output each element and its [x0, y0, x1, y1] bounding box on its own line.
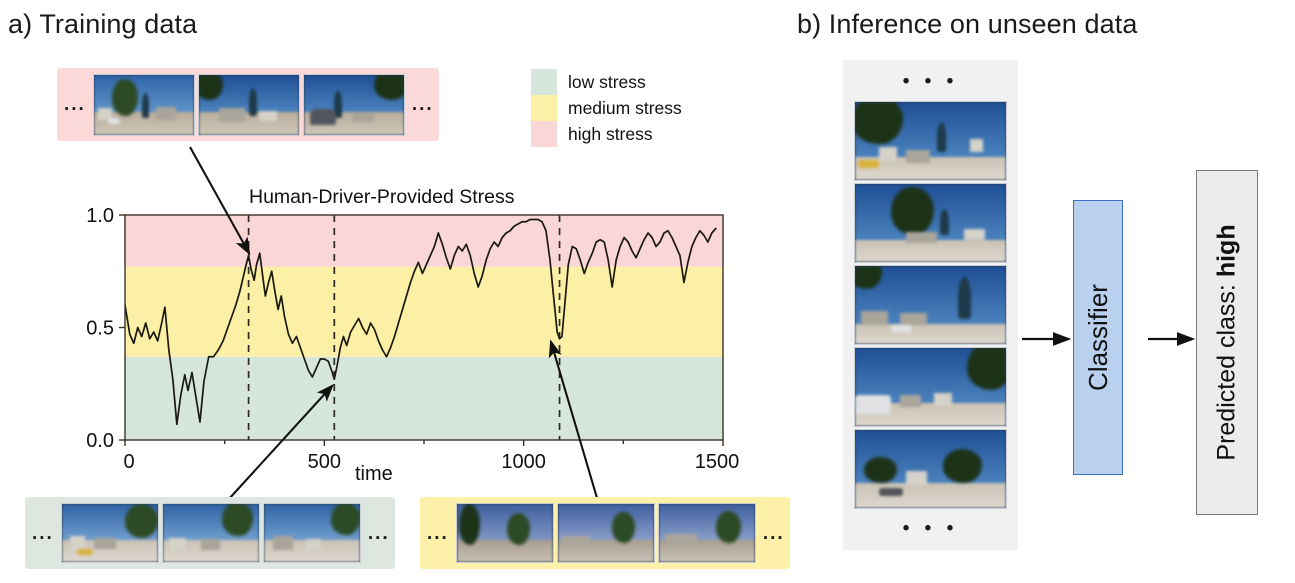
stress-timeseries-chart: 0.00.51.0 050010001500	[60, 200, 750, 485]
legend-item-high: high stress	[531, 121, 682, 147]
video-frame[interactable]	[162, 503, 260, 563]
legend-label-low: low stress	[568, 72, 646, 93]
prediction-prefix: Predicted class:	[1213, 277, 1241, 460]
panel-a-title: a) Training data	[8, 9, 197, 40]
stress-bands	[125, 215, 723, 440]
x-tick-label: 500	[308, 451, 341, 473]
legend-swatch-high	[531, 121, 557, 147]
training-strip-low-stress[interactable]: ...	[25, 497, 395, 569]
strip-frames	[61, 503, 361, 563]
stack-bottom-ellipsis: • • •	[903, 519, 959, 538]
video-frame[interactable]	[303, 74, 405, 136]
stack-top-ellipsis: • • •	[903, 72, 959, 91]
training-strip-high-stress[interactable]: ...	[57, 68, 439, 141]
strip-left-ellipsis: ...	[57, 95, 93, 114]
video-frame[interactable]	[854, 347, 1007, 427]
stress-legend: low stress medium stress high stress	[531, 69, 682, 147]
band-low-stress	[125, 357, 723, 440]
legend-item-medium: medium stress	[531, 95, 682, 121]
classifier-label: Classifier	[1083, 284, 1114, 391]
stack-frames	[854, 101, 1007, 509]
strip-frames	[456, 503, 756, 563]
video-frame[interactable]	[854, 265, 1007, 345]
strip-right-ellipsis: ...	[756, 524, 792, 543]
video-frame[interactable]	[854, 429, 1007, 509]
classifier-box[interactable]: Classifier	[1073, 200, 1123, 475]
legend-swatch-medium	[531, 95, 557, 121]
y-tick-label: 0.0	[86, 430, 114, 452]
x-tick-label: 1500	[695, 451, 740, 473]
video-frame[interactable]	[557, 503, 655, 563]
video-frame[interactable]	[263, 503, 361, 563]
strip-left-ellipsis: ...	[25, 524, 61, 543]
strip-left-ellipsis: ...	[420, 524, 456, 543]
band-medium-stress	[125, 267, 723, 357]
prediction-box: Predicted class: high	[1196, 170, 1258, 515]
strip-right-ellipsis: ...	[361, 524, 397, 543]
video-frame[interactable]	[93, 74, 195, 136]
band-high-stress	[125, 215, 723, 267]
training-strip-medium-stress[interactable]: ... ...	[420, 497, 790, 569]
video-frame[interactable]	[658, 503, 756, 563]
prediction-label: Predicted class: high	[1213, 224, 1242, 460]
x-axis-label: time	[355, 463, 393, 486]
panel-b-title: b) Inference on unseen data	[797, 9, 1137, 40]
video-frame[interactable]	[854, 101, 1007, 181]
x-tick-label: 0	[123, 451, 134, 473]
x-tick-label: 1000	[501, 451, 545, 473]
y-tick-label: 0.5	[86, 318, 114, 340]
y-tick-label: 1.0	[86, 205, 114, 227]
y-tick-labels: 0.00.51.0	[86, 205, 114, 452]
strip-frames	[93, 74, 405, 136]
legend-label-high: high stress	[568, 124, 653, 145]
legend-item-low: low stress	[531, 69, 682, 95]
unseen-frame-stack[interactable]: • • •	[843, 60, 1018, 550]
strip-right-ellipsis: ...	[405, 95, 441, 114]
legend-swatch-low	[531, 69, 557, 95]
video-frame[interactable]	[198, 74, 300, 136]
video-frame[interactable]	[61, 503, 159, 563]
video-frame[interactable]	[456, 503, 554, 563]
legend-label-medium: medium stress	[568, 98, 682, 119]
x-tick-labels: 050010001500	[123, 451, 739, 473]
prediction-value: high	[1213, 224, 1241, 277]
video-frame[interactable]	[854, 183, 1007, 263]
